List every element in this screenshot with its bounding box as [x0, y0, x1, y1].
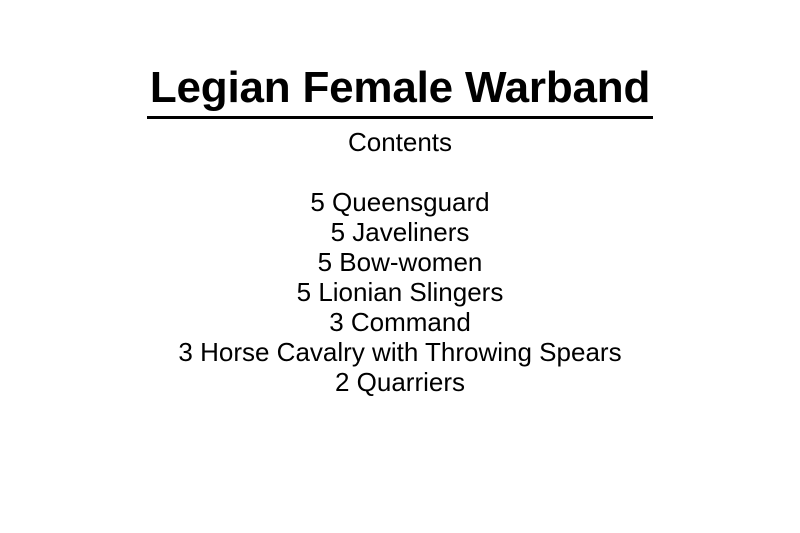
list-item: 5 Javeliners	[0, 217, 800, 247]
list-item: 5 Lionian Slingers	[0, 277, 800, 307]
list-item-text: 2 Quarriers	[335, 367, 465, 397]
slide-canvas: Legian Female Warband Contents 5 Queensg…	[0, 0, 800, 533]
list-item-text: 5 Bow-women	[318, 247, 483, 277]
list-item: 3 Horse Cavalry with Throwing Spears	[0, 337, 800, 367]
list-item-text: 3 Horse Cavalry with Throwing Spears	[178, 337, 621, 367]
list-item-text: 3 Command	[329, 307, 471, 337]
slide-subtitle-text: Contents	[348, 127, 452, 157]
list-item-text: 5 Lionian Slingers	[297, 277, 504, 307]
slide-subtitle: Contents	[0, 127, 800, 157]
list-item-text: 5 Javeliners	[331, 217, 470, 247]
list-item: 5 Bow-women	[0, 247, 800, 277]
slide-title-text: Legian Female Warband	[147, 62, 653, 119]
contents-list: 5 Queensguard 5 Javeliners 5 Bow-women 5…	[0, 187, 800, 397]
list-item: 5 Queensguard	[0, 187, 800, 217]
list-item: 3 Command	[0, 307, 800, 337]
slide-title: Legian Female Warband	[0, 62, 800, 119]
list-item: 2 Quarriers	[0, 367, 800, 397]
list-item-text: 5 Queensguard	[310, 187, 489, 217]
